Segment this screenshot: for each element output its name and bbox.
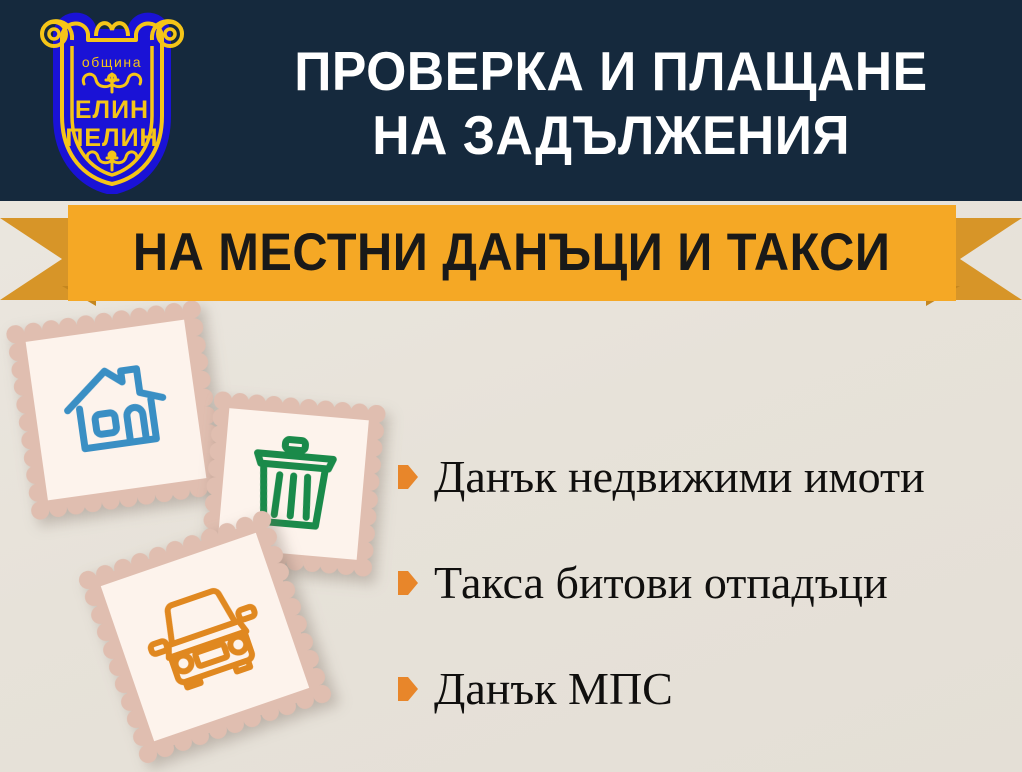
arrow-bullet-icon (398, 677, 418, 701)
municipality-logo: община ЕЛИН ПЕЛИН (22, 6, 202, 194)
poster-canvas: община ЕЛИН ПЕЛИН (0, 0, 1022, 772)
tax-type-list: Данък недвижими имоти Такса битови отпад… (398, 424, 1013, 742)
list-item[interactable]: Данък недвижими имоти (398, 424, 1013, 530)
list-item-label: Данък МПС (434, 664, 673, 714)
page-title-line-1: ПРОВЕРКА И ПЛАЩАНЕ (294, 39, 927, 103)
header-title-block: ПРОВЕРКА И ПЛАЩАНЕ НА ЗАДЪЛЖЕНИЯ (200, 0, 1022, 201)
list-item[interactable]: Данък МПС (398, 636, 1013, 742)
property-stamp (5, 299, 226, 520)
svg-text:община: община (82, 54, 142, 70)
svg-text:ПЕЛИН: ПЕЛИН (65, 124, 158, 152)
header-banner: община ЕЛИН ПЕЛИН (0, 0, 1022, 201)
page-title-line-2: НА ЗАДЪЛЖЕНИЯ (372, 103, 850, 167)
svg-text:ЕЛИН: ЕЛИН (75, 96, 149, 124)
ribbon-body: НА МЕСТНИ ДАНЪЦИ И ТАКСИ (68, 205, 956, 301)
elin-pelin-coat-of-arms-icon: община ЕЛИН ПЕЛИН (22, 6, 202, 194)
arrow-bullet-icon (398, 571, 418, 595)
house-icon (58, 353, 175, 467)
list-item[interactable]: Такса битови отпадъци (398, 530, 1013, 636)
ribbon-label: НА МЕСТНИ ДАНЪЦИ И ТАКСИ (133, 225, 890, 281)
list-item-label: Данък недвижими имоти (434, 452, 925, 502)
car-icon (134, 572, 277, 701)
subtitle-ribbon: НА МЕСТНИ ДАНЪЦИ И ТАКСИ (0, 200, 1022, 312)
stamp-paper (26, 320, 207, 501)
list-item-label: Такса битови отпадъци (434, 558, 888, 608)
arrow-bullet-icon (398, 465, 418, 489)
